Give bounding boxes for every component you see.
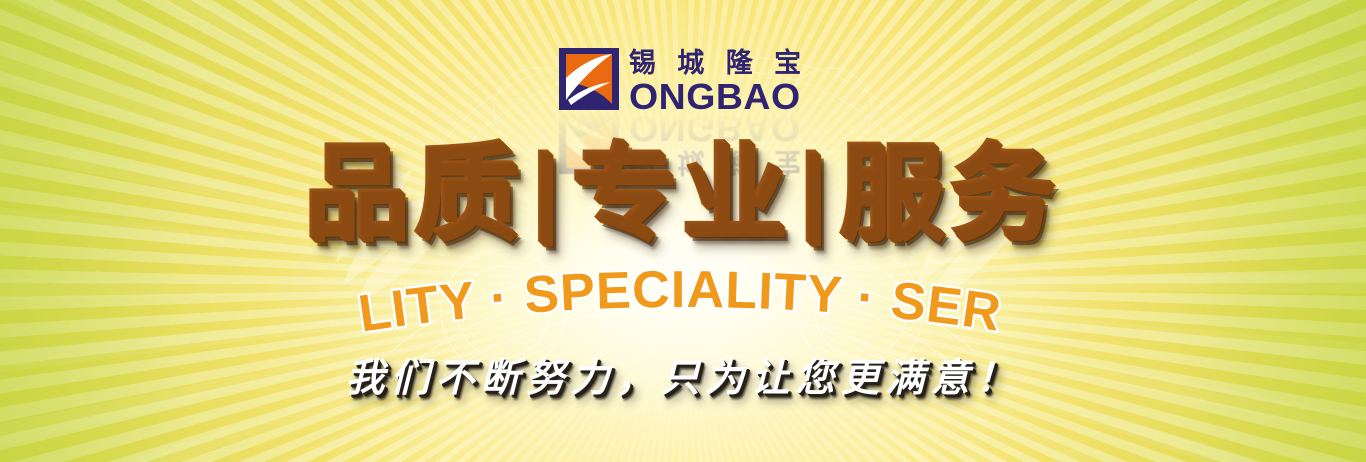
sail-icon (559, 48, 619, 110)
logo-wordmark: 锡 城 隆 宝 ONGBAO (629, 48, 807, 113)
headline-row: 品 质 | 专 业 | 服 务 (305, 141, 1060, 253)
promo-banner: 锡 城 隆 宝 ONGBAO 锡 城 隆 宝 ONGBAO (0, 0, 1366, 462)
headline-char-3: 专 (573, 141, 683, 253)
headline-char-2: 质 (415, 141, 525, 253)
tagline-text: QUALITY · SPECIALITY · SERVICE (0, 268, 1004, 344)
logo-english-name: ONGBAO (629, 80, 814, 113)
tagline-svg: QUALITY · SPECIALITY · SERVICE (0, 268, 1366, 344)
headline-char-1: 品 (305, 141, 415, 253)
headline: 品 质 | 专 业 | 服 务 (0, 132, 1366, 262)
slogan: 我们不断努力，只为让您更满意！ (0, 354, 1366, 404)
headline-char-5: 服 (841, 141, 951, 253)
headline-separator-2: | (793, 139, 841, 251)
logo-lockup[interactable]: 锡 城 隆 宝 ONGBAO (0, 48, 1366, 113)
headline-char-6: 务 (951, 141, 1061, 253)
headline-char-4: 业 (683, 141, 793, 253)
logo-chinese-name: 锡 城 隆 宝 (629, 49, 807, 79)
longbao-sail-mark[interactable] (559, 48, 619, 110)
headline-separator-1: | (525, 139, 573, 251)
tagline: QUALITY · SPECIALITY · SERVICE (0, 268, 1366, 344)
tagline-full-text: QUALITY · SPECIALITY · SERVICE (0, 268, 1004, 344)
